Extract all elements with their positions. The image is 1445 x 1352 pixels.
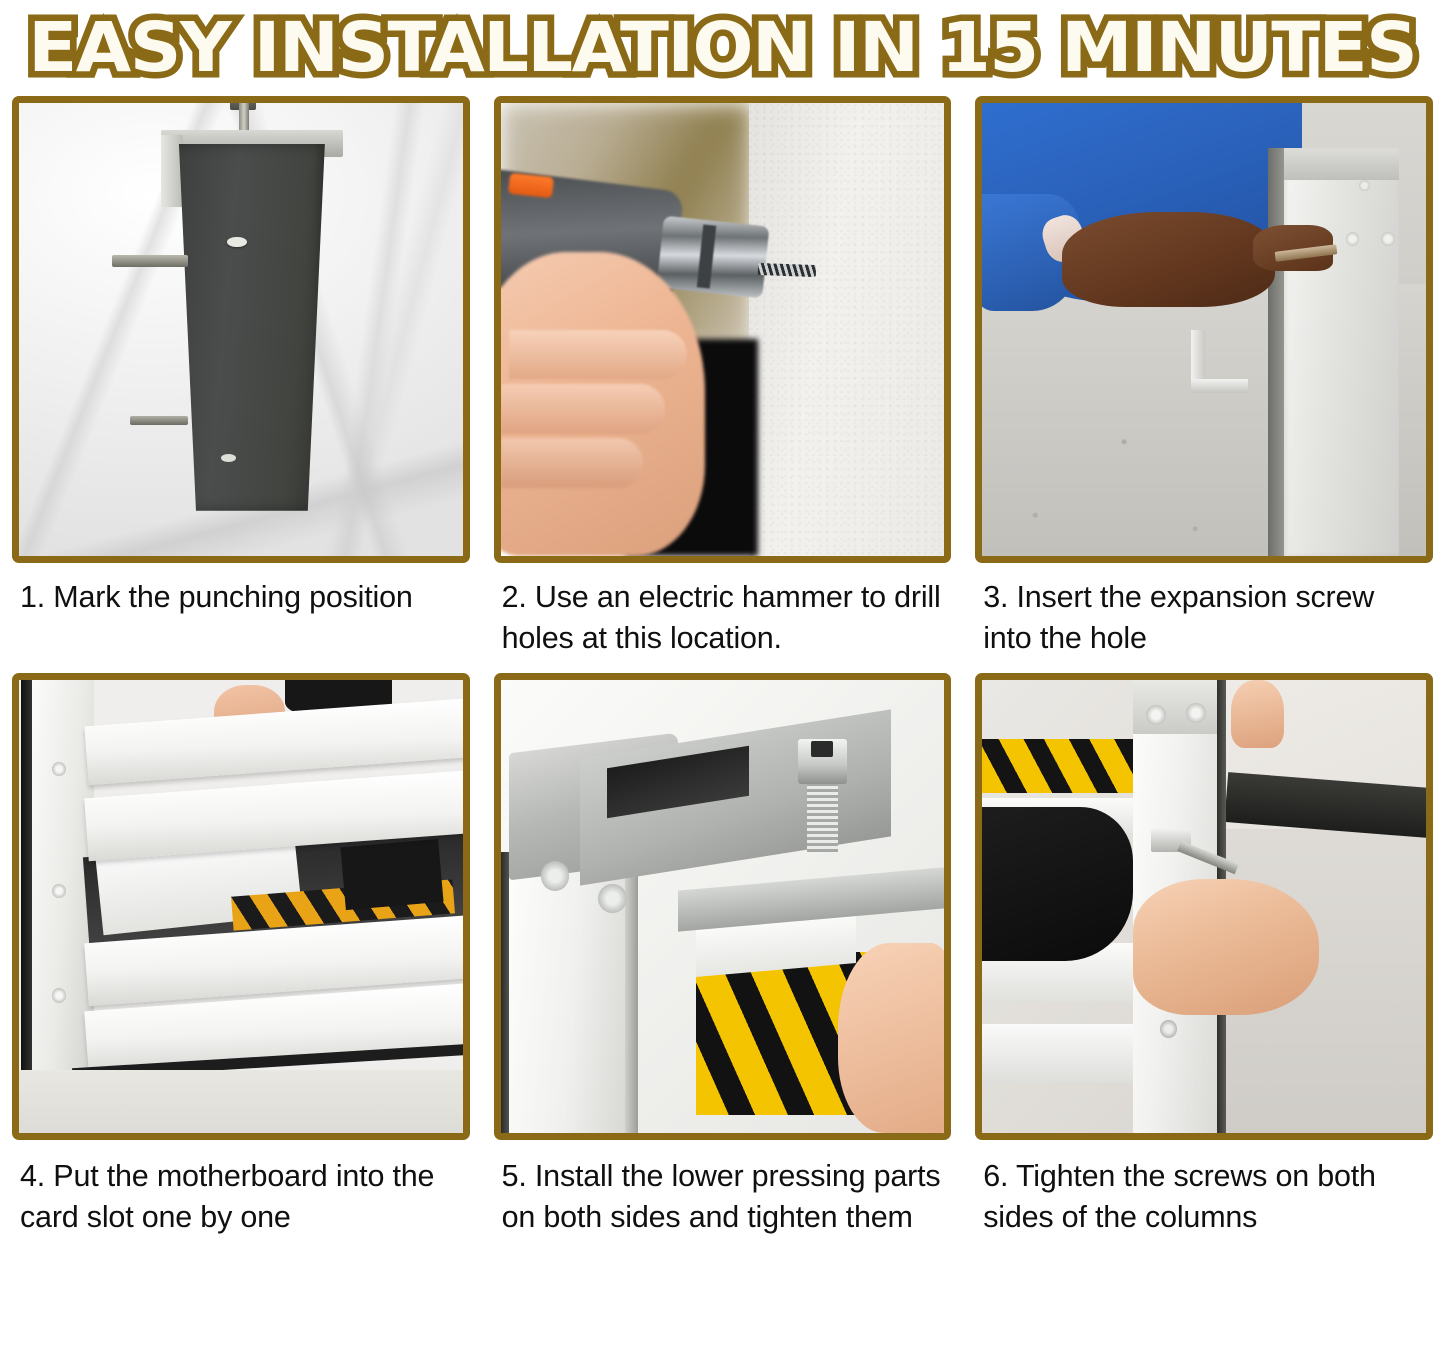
thumb-bolt-thread [807,780,838,852]
steps-grid: 1. Mark the punching position [0,96,1445,1250]
bracket-screw-2 [598,884,627,913]
textured-wall [749,103,944,556]
column-screw-3 [52,988,66,1002]
marking-hole-upper [227,237,246,247]
step-cell-6: 6. Tighten the screws on both sides of t… [963,673,1445,1250]
step-image-frame-2 [494,96,952,563]
worker-arm [1062,212,1275,307]
hand-holding-barrier [838,943,944,1133]
step-image-frame-1 [12,96,470,563]
thumb [1231,680,1284,748]
board-edge [625,861,638,1133]
column-screw-top-right [1186,703,1206,723]
step-cell-4: 4. Put the motherboard into the card slo… [0,673,482,1250]
step-cell-3: 3. Insert the expansion screw into the h… [963,96,1445,673]
step-photo-3 [982,103,1426,556]
protruding-bolt-upper [112,255,187,267]
steps-row-1: 1. Mark the punching position [0,96,1445,673]
step-photo-6 [982,680,1426,1133]
steps-row-2: 4. Put the motherboard into the card slo… [0,673,1445,1250]
hand-tightening [1133,879,1319,1015]
step-photo-5 [501,680,945,1133]
drill-bit [758,263,816,277]
barrier-board-lower [982,1024,1137,1083]
step-image-frame-6 [975,673,1433,1140]
column-top-bracket [1284,148,1399,180]
page-header: EASY INSTALLATION IN 15 MINUTES [0,0,1445,96]
white-column [1284,148,1399,556]
step-image-frame-4 [12,673,470,1140]
protruding-bolt-lower [130,416,188,426]
finger-lower [501,438,643,488]
finger-upper [509,330,686,380]
step-cell-1: 1. Mark the punching position [0,96,482,673]
expansion-screw-left [1346,232,1359,246]
column-screw-bottom [1160,1020,1178,1038]
step-photo-4 [19,680,463,1133]
step-cell-5: 5. Install the lower pressing parts on b… [482,673,964,1250]
bolt-hex-socket [811,741,833,757]
dark-column-post [174,144,329,511]
step-caption-4: 4. Put the motherboard into the card slo… [12,1140,470,1250]
step-image-frame-3 [975,96,1433,563]
step-caption-1: 1. Mark the punching position [12,563,470,673]
finger-middle [501,384,665,434]
step-caption-6: 6. Tighten the screws on both sides of t… [975,1140,1433,1250]
black-sleeve [982,807,1133,961]
page-title: EASY INSTALLATION IN 15 MINUTES [29,14,1417,83]
hex-key-arm [1191,379,1249,393]
step-photo-1 [19,103,463,556]
step-caption-2: 2. Use an electric hammer to drill holes… [494,563,952,673]
step-image-frame-5 [494,673,952,1140]
hazard-tape-upper [982,739,1133,793]
step-photo-2 [501,103,945,556]
step-caption-5: 5. Install the lower pressing parts on b… [494,1140,952,1250]
bracket-screw-1 [541,861,570,890]
expansion-screw-top [1359,180,1370,191]
floor-surface [19,1070,463,1133]
step-cell-2: 2. Use an electric hammer to drill holes… [482,96,964,673]
expansion-screw-right [1381,232,1394,246]
person-leg-dark [340,839,443,911]
step-caption-3: 3. Insert the expansion screw into the h… [975,563,1433,673]
